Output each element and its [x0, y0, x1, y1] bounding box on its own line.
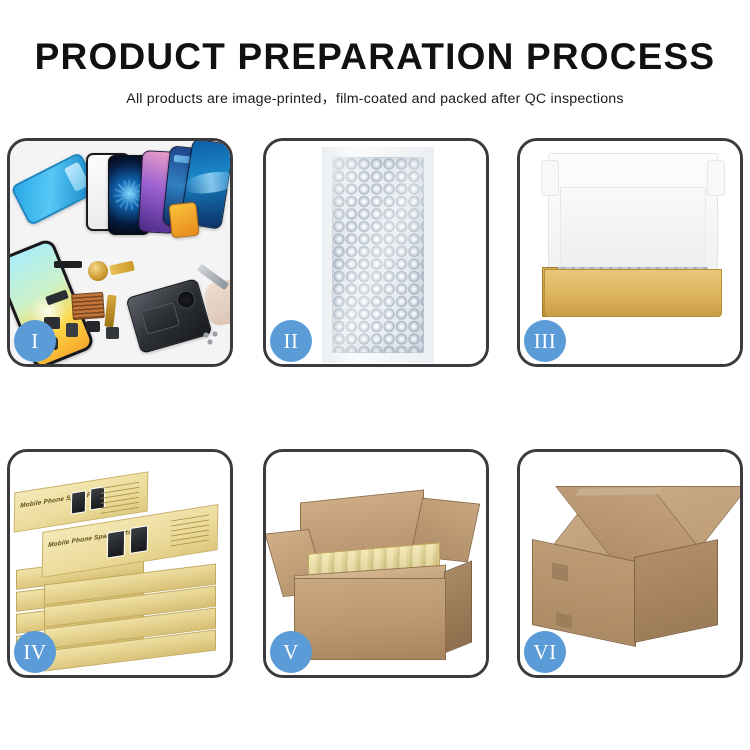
header: PRODUCT PREPARATION PROCESS All products…	[0, 0, 750, 108]
carton-marking-1	[552, 562, 568, 581]
step-badge-6: VI	[524, 631, 566, 673]
orange-phone-back-icon	[168, 202, 199, 239]
phone-back-housing-icon	[125, 278, 212, 354]
step-numeral: VI	[533, 640, 556, 665]
step-numeral: V	[283, 640, 299, 665]
step-panel-2: II	[263, 138, 489, 367]
step-badge-5: V	[270, 631, 312, 673]
step-panel-1: I	[7, 138, 233, 367]
step-badge-4: IV	[14, 631, 56, 673]
copper-mesh-icon	[71, 292, 105, 320]
page-subtitle: All products are image-printed，film-coat…	[0, 88, 750, 108]
step-badge-1: I	[14, 320, 56, 362]
step-badge-3: III	[524, 320, 566, 362]
step-numeral: II	[284, 329, 299, 354]
screws-icon	[202, 331, 224, 345]
step-panel-5: V	[263, 449, 489, 678]
step-panel-4: Mobile Phone Spare Parts Mobile Phone Sp…	[7, 449, 233, 678]
flex-cable-a-icon	[109, 261, 135, 276]
step-numeral: IV	[23, 640, 46, 665]
step-numeral: I	[31, 329, 39, 354]
box-art-screen-1-icon	[107, 530, 125, 559]
box-spec-lines	[101, 482, 139, 514]
component-chip-b-icon	[66, 323, 78, 337]
box-spec-lines	[171, 514, 209, 546]
wireless-coil-icon	[88, 261, 108, 281]
carton-front-face	[294, 578, 446, 660]
step-panel-6: VI	[517, 449, 743, 678]
mailer-tray-icon	[544, 269, 722, 317]
carton-right-side	[444, 560, 472, 653]
flex-cable-b-icon	[104, 295, 116, 328]
step-badge-2: II	[270, 320, 312, 362]
battery-icon	[141, 302, 180, 334]
page-title: PRODUCT PREPARATION PROCESS	[0, 38, 750, 77]
product-preparation-process-infographic: PRODUCT PREPARATION PROCESS All products…	[0, 0, 750, 750]
bubble-wrap-sheet-icon	[332, 157, 424, 353]
mailer-inner-wall	[560, 187, 706, 273]
component-chip-c-icon	[86, 321, 100, 332]
speaker-strip-icon	[54, 261, 82, 268]
step-numeral: III	[534, 329, 556, 354]
step-panel-3: III	[517, 138, 743, 367]
box-art-screen-2-icon	[130, 525, 148, 554]
box-art-screen-1-icon	[71, 490, 86, 514]
camera-lens-icon	[175, 289, 197, 311]
component-chip-d-icon	[106, 327, 119, 339]
sealed-carton-side-face	[634, 539, 718, 643]
